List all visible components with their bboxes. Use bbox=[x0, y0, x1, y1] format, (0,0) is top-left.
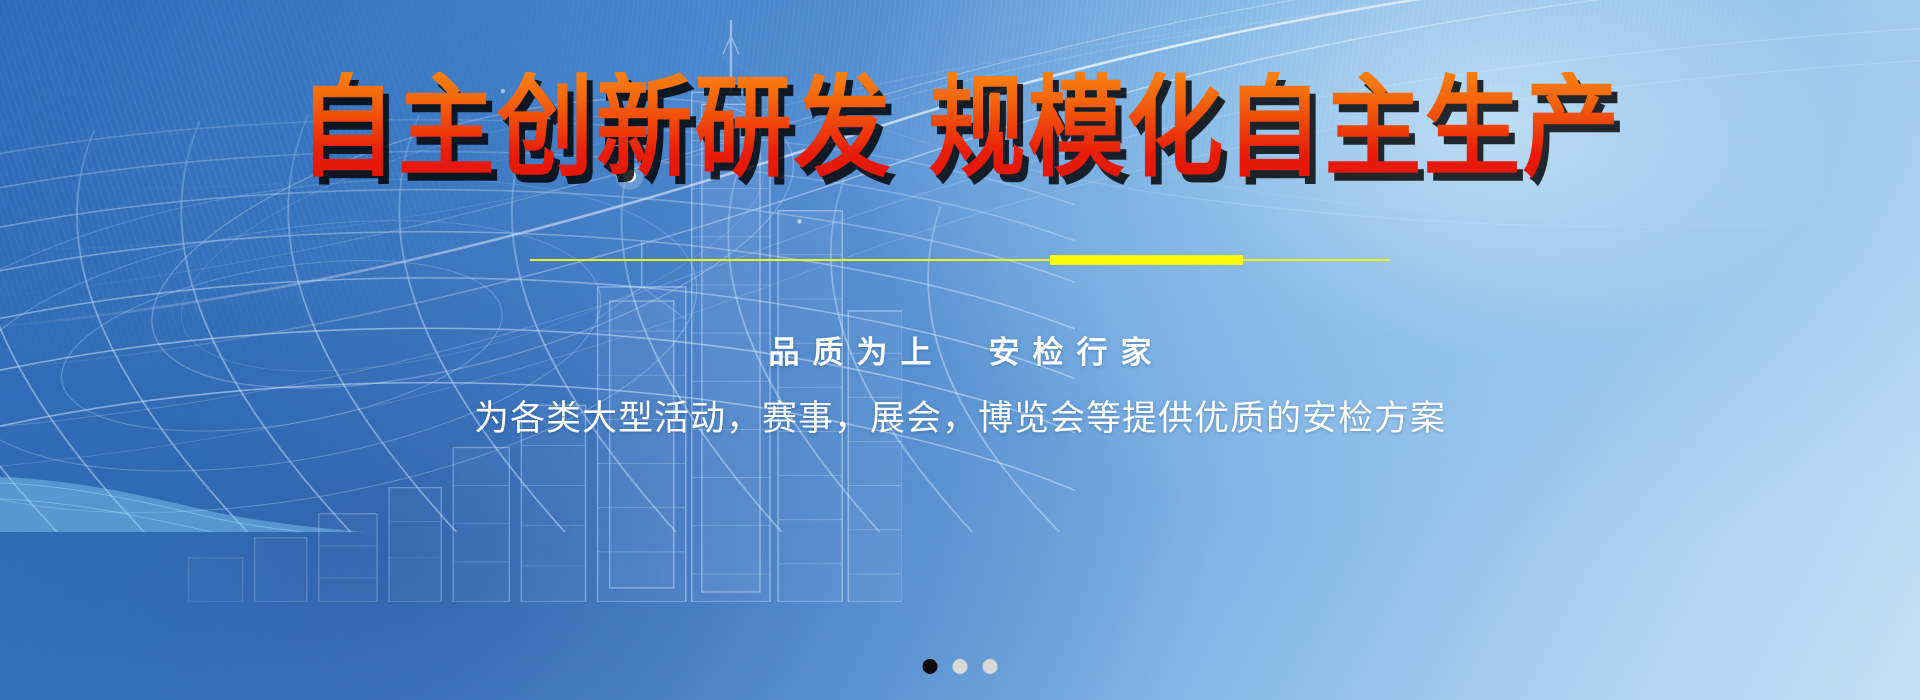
banner-content: 自主创新研发 规模化自主生产 品质为上 安检行家 为各类大型活动，赛事，展会，博… bbox=[0, 0, 1920, 700]
carousel-dot-1[interactable] bbox=[923, 659, 938, 674]
divider-thick-line bbox=[1050, 255, 1243, 265]
banner-subtitle: 为各类大型活动，赛事，展会，博览会等提供优质的安检方案 bbox=[474, 390, 1446, 441]
carousel-pagination[interactable] bbox=[923, 659, 998, 674]
banner-tagline: 品质为上 安检行家 bbox=[756, 327, 1165, 372]
banner-headline: 自主创新研发 规模化自主生产 bbox=[299, 72, 1622, 183]
carousel-dot-2[interactable] bbox=[953, 659, 968, 674]
carousel-dot-3[interactable] bbox=[983, 659, 998, 674]
hero-banner: 自主创新研发 规模化自主生产 品质为上 安检行家 为各类大型活动，赛事，展会，博… bbox=[0, 0, 1920, 700]
divider-thin-line bbox=[530, 259, 1390, 261]
yellow-divider bbox=[530, 253, 1390, 267]
